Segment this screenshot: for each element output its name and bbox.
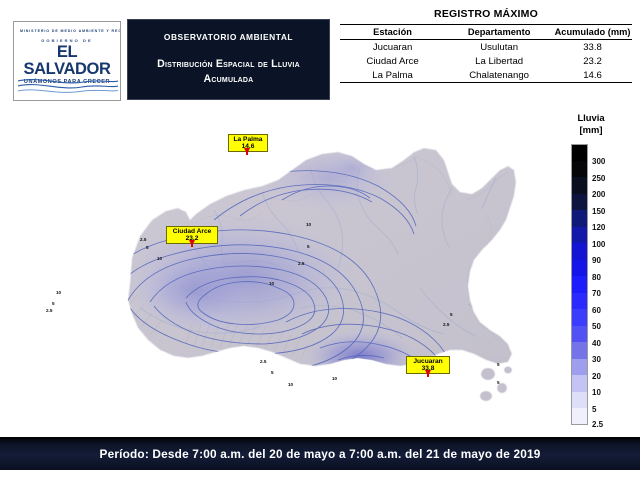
cell-acumulado: 33.8 — [553, 40, 632, 55]
column-header-departamento: Departamento — [445, 25, 553, 40]
header-section: MINISTERIO DE MEDIO AMBIENTE Y RECURSOS … — [0, 0, 640, 110]
legend-tick-label: 2.5 — [592, 420, 603, 429]
legend-tick-label: 60 — [592, 306, 601, 315]
cell-departamento: Usulutan — [445, 40, 553, 55]
legend-swatch-10: 10 — [571, 375, 588, 392]
legend-tick-label: 10 — [592, 388, 601, 397]
logo-country-name: EL SALVADOR — [20, 44, 114, 78]
svg-text:10: 10 — [269, 281, 275, 286]
cell-departamento: La Libertad — [445, 54, 553, 68]
legend-swatch-50: 50 — [571, 309, 588, 326]
svg-text:10: 10 — [56, 290, 62, 295]
registro-maximo-block: REGISTRO MÁXIMO Estación Departamento Ac… — [340, 8, 632, 83]
svg-text:10: 10 — [332, 376, 338, 381]
legend-swatch-90: 90 — [571, 243, 588, 260]
table-header-row: Estación Departamento Acumulado (mm) — [340, 25, 632, 40]
registro-maximo-table: Estación Departamento Acumulado (mm) Juc… — [340, 24, 632, 83]
logo-waves-icon — [18, 77, 118, 95]
svg-text:2.5: 2.5 — [140, 237, 147, 242]
ministry-logo: MINISTERIO DE MEDIO AMBIENTE Y RECURSOS … — [13, 21, 121, 101]
observatory-subtitle: OBSERVATORIO AMBIENTAL — [128, 32, 329, 42]
legend-tick-label: 90 — [592, 256, 601, 265]
svg-text:5: 5 — [450, 312, 453, 317]
cell-estacion: Jucuaran — [340, 40, 445, 55]
svg-text:5: 5 — [307, 244, 310, 249]
rainfall-legend: Lluvia [mm] 3002502001501201009080706050… — [556, 108, 640, 433]
svg-text:2.5: 2.5 — [298, 261, 305, 266]
legend-tick-label: 150 — [592, 207, 605, 216]
legend-swatch-30: 30 — [571, 342, 588, 359]
station-name: Jucuaran — [409, 358, 447, 366]
svg-text:2.5: 2.5 — [260, 359, 267, 364]
legend-tick-label: 5 — [592, 405, 596, 414]
legend-swatch-60: 60 — [571, 293, 588, 310]
cell-estacion: La Palma — [340, 68, 445, 83]
svg-text:5: 5 — [52, 301, 55, 306]
column-header-estacion: Estación — [340, 25, 445, 40]
legend-swatch-200: 200 — [571, 177, 588, 194]
legend-tick-label: 50 — [592, 322, 601, 331]
legend-swatch-120: 120 — [571, 210, 588, 227]
legend-swatch-5: 5 — [571, 392, 588, 409]
legend-title: Lluvia [mm] — [542, 108, 640, 136]
logo-ministry-line: MINISTERIO DE MEDIO AMBIENTE Y RECURSOS … — [20, 29, 114, 34]
legend-tick-label: 120 — [592, 223, 605, 232]
legend-tick-label: 300 — [592, 157, 605, 166]
svg-text:2.5: 2.5 — [443, 322, 450, 327]
legend-swatch-300: 300 — [571, 144, 588, 161]
cell-acumulado: 14.6 — [553, 68, 632, 83]
legend-swatch-20: 20 — [571, 359, 588, 376]
legend-tick-label: 40 — [592, 339, 601, 348]
legend-swatch-80: 80 — [571, 260, 588, 277]
cell-acumulado: 23.2 — [553, 54, 632, 68]
svg-text:5: 5 — [146, 245, 149, 250]
rainfall-map: 2.5 5 10 10 10 5 2.5 5 2.5 10 5 2.5 2.5 … — [0, 108, 556, 433]
legend-tick-label: 70 — [592, 289, 601, 298]
map-islands — [480, 367, 512, 402]
legend-title-line1: Lluvia — [542, 112, 640, 124]
period-text: Período: Desde 7:00 a.m. del 20 de mayo … — [100, 447, 541, 461]
legend-swatch-100: 100 — [571, 227, 588, 244]
svg-text:5: 5 — [271, 370, 274, 375]
period-footer-bar: Período: Desde 7:00 a.m. del 20 de mayo … — [0, 437, 640, 470]
legend-tick-label: 80 — [592, 273, 601, 282]
legend-tick-label: 200 — [592, 190, 605, 199]
legend-swatch-70: 70 — [571, 276, 588, 293]
cell-departamento: Chalatenango — [445, 68, 553, 83]
legend-color-ramp: 30025020015012010090807060504030201052.5 — [571, 144, 588, 425]
station-name: La Palma — [231, 136, 265, 144]
legend-swatch-40: 40 — [571, 326, 588, 343]
station-marker-la-palma[interactable] — [244, 148, 250, 154]
svg-text:5: 5 — [497, 362, 500, 367]
legend-swatch-250: 250 — [571, 161, 588, 178]
table-title: REGISTRO MÁXIMO — [340, 8, 632, 20]
svg-text:10: 10 — [288, 382, 294, 387]
svg-text:10: 10 — [157, 256, 163, 261]
table-row: La Palma Chalatenango 14.6 — [340, 68, 632, 83]
svg-text:5: 5 — [497, 380, 500, 385]
table-row: Jucuaran Usulutan 33.8 — [340, 40, 632, 55]
legend-tick-label: 100 — [592, 240, 605, 249]
station-marker-jucuaran[interactable] — [425, 370, 431, 376]
svg-text:10: 10 — [306, 222, 312, 227]
legend-title-line2: [mm] — [542, 124, 640, 136]
legend-swatch-150: 150 — [571, 194, 588, 211]
legend-tick-label: 250 — [592, 174, 605, 183]
station-marker-ciudad-arce[interactable] — [189, 240, 195, 246]
svg-text:2.5: 2.5 — [46, 308, 53, 313]
legend-tick-label: 30 — [592, 355, 601, 364]
title-panel: OBSERVATORIO AMBIENTAL Distribución Espa… — [127, 19, 330, 100]
column-header-acumulado: Acumulado (mm) — [553, 25, 632, 40]
page-title: Distribución Espacial de Lluvia Acumulad… — [128, 57, 329, 87]
station-name: Ciudad Arce — [169, 228, 215, 236]
legend-swatch-2.5: 2.5 — [571, 408, 588, 425]
cell-estacion: Ciudad Arce — [340, 54, 445, 68]
legend-tick-label: 20 — [592, 372, 601, 381]
map-graphic: 2.5 5 10 10 10 5 2.5 5 2.5 10 5 2.5 2.5 … — [0, 108, 556, 433]
table-row: Ciudad Arce La Libertad 23.2 — [340, 54, 632, 68]
